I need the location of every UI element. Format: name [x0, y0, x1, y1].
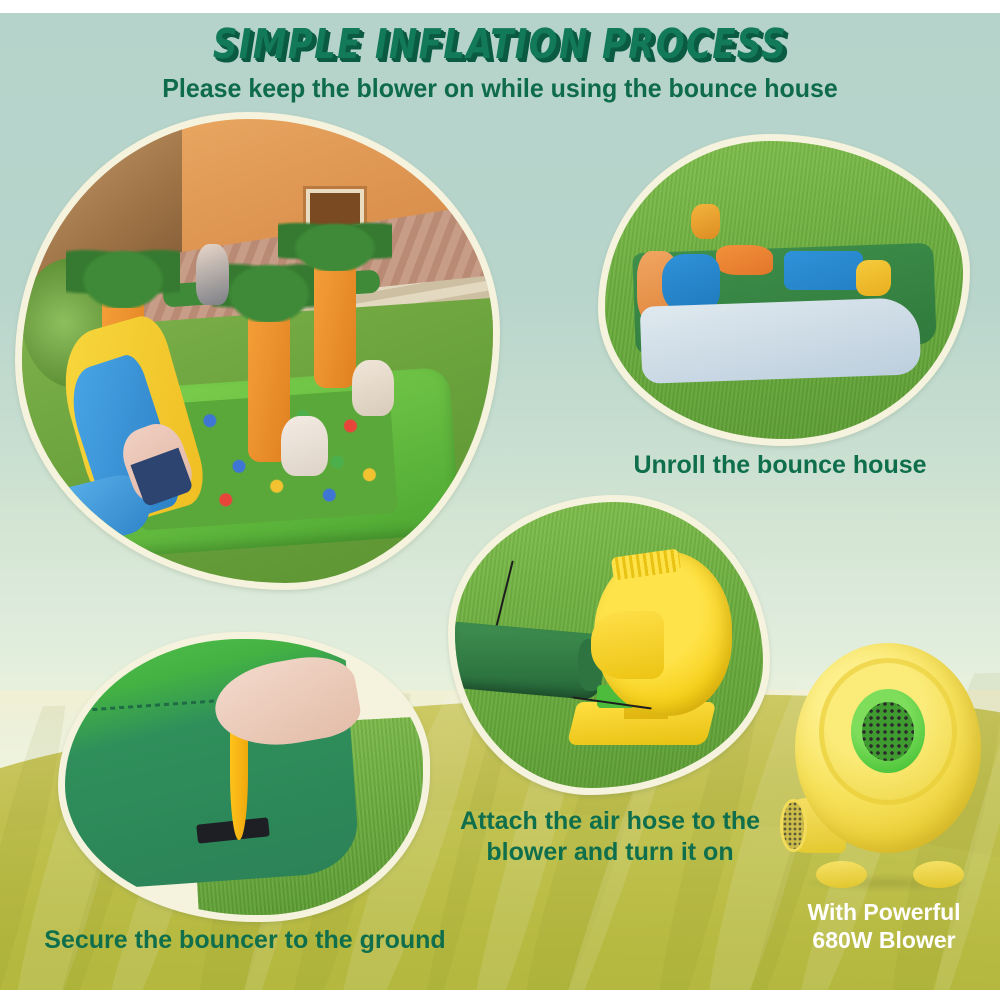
- blower-housing: [795, 643, 982, 853]
- product-blower-label: With Powerful 680W Blower: [770, 898, 998, 954]
- caption-line-2: blower and turn it on: [400, 837, 820, 868]
- scene-blower-and-hose: [455, 502, 763, 788]
- scene-ground-stake: [65, 639, 423, 915]
- child-in-ball-pit: [352, 360, 394, 416]
- blower-outlet: [591, 611, 665, 680]
- product-blower-image: [782, 643, 994, 893]
- top-white-margin: [0, 0, 1000, 13]
- caption-line-1: Attach the air hose to the: [400, 806, 820, 837]
- caption-attach-hose: Attach the air hose to the blower and tu…: [400, 806, 820, 867]
- photo-clip: [22, 119, 493, 583]
- blower-mesh-grille: [862, 702, 914, 761]
- bouncer-fabric-orange: [716, 245, 773, 275]
- palm-tree-decoration: [314, 249, 356, 388]
- child-standing: [196, 244, 229, 304]
- scene-unrolled-bouncer: [605, 141, 963, 439]
- photo-clip: [605, 141, 963, 439]
- product-label-line-1: With Powerful: [770, 898, 998, 926]
- infographic-page: SIMPLE INFLATION PROCESS Please keep the…: [0, 0, 1000, 1000]
- caption-secure-bouncer: Secure the bouncer to the ground: [10, 925, 480, 956]
- blower-foot: [913, 861, 964, 889]
- photo-unroll-bounce-house: [598, 134, 970, 446]
- photo-clip: [65, 639, 423, 915]
- page-subtitle: Please keep the blower on while using th…: [20, 73, 980, 104]
- photo-secure-bouncer: [58, 632, 430, 922]
- photo-attach-air-hose: [448, 495, 770, 795]
- bouncer-fabric-lightblue: [640, 297, 922, 384]
- photo-clip: [455, 502, 763, 788]
- bouncer-fabric-yellow: [856, 260, 892, 296]
- page-title: SIMPLE INFLATION PROCESS: [40, 20, 960, 68]
- bouncer-fabric-blue: [784, 251, 863, 290]
- caption-unroll: Unroll the bounce house: [570, 450, 990, 481]
- product-label-line-2: 680W Blower: [770, 926, 998, 954]
- bottom-white-margin: [0, 990, 1000, 1000]
- photo-bounce-house-in-use: [15, 112, 500, 590]
- folded-fabric-tip: [691, 204, 720, 240]
- scene-backyard: [22, 119, 493, 583]
- blower-foot: [816, 861, 867, 889]
- child-in-ball-pit: [281, 416, 328, 476]
